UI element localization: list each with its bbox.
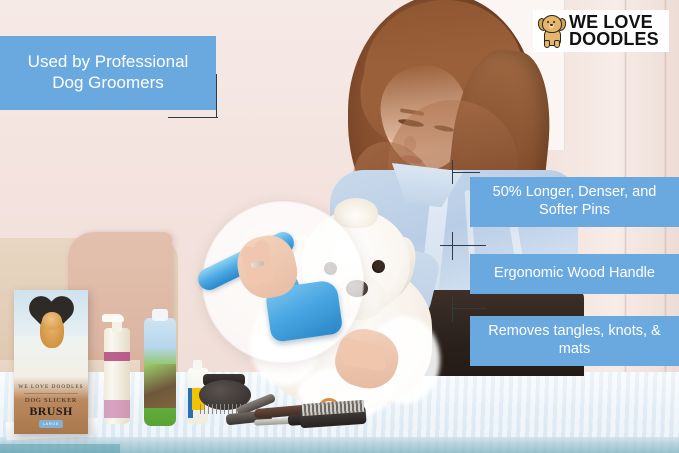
grooming-table-edge-accent (0, 444, 120, 453)
packaging-divider (24, 393, 78, 394)
callout-handle: Ergonomic Wood Handle (470, 254, 679, 294)
packaging-size-badge: LARGE (39, 420, 63, 428)
packaging-brand: WE LOVE DOODLES (14, 384, 88, 390)
doodle-dog-icon (538, 15, 565, 47)
dog-topknot (334, 198, 378, 228)
spray-bottle-base (104, 400, 130, 418)
spray-bottle-band (104, 352, 130, 361)
leader-line-handle-horizontal (440, 245, 486, 246)
brand-logo-line2: DOODLES (569, 31, 659, 48)
spray-bottle-trigger (102, 314, 124, 322)
leader-line-banner-horizontal (168, 117, 218, 118)
brand-logo: WE LOVE DOODLES (533, 10, 669, 52)
leader-line-banner-vertical (216, 74, 217, 118)
product-marketing-image: WE LOVE DOODLES WE LOVE DOODLES DOG SLIC… (0, 0, 679, 453)
shampoo-bottle-label (144, 364, 176, 408)
dog-eye-right (372, 260, 385, 273)
logo-dog-leg (544, 40, 550, 48)
dropper-bottle-cap (193, 360, 202, 370)
logo-dog-leg (554, 40, 560, 48)
leader-line-tangles-horizontal (452, 308, 486, 309)
headline-banner: Used by Professional Dog Groomers (0, 36, 216, 110)
shampoo-bottle-cap (152, 309, 168, 321)
packaging-puppy-head (42, 312, 62, 330)
packaging-product-line1: DOG SLICKER (14, 397, 88, 404)
callout-pins: 50% Longer, Denser, and Softer Pins (470, 177, 679, 227)
packaging-product-line2: BRUSH (14, 404, 88, 419)
callout-tangles: Removes tangles, knots, & mats (470, 316, 679, 366)
product-packaging-box: WE LOVE DOODLES DOG SLICKER BRUSH LARGE (14, 290, 88, 434)
brand-logo-text: WE LOVE DOODLES (569, 14, 659, 49)
leader-line-pins-horizontal (452, 172, 480, 173)
